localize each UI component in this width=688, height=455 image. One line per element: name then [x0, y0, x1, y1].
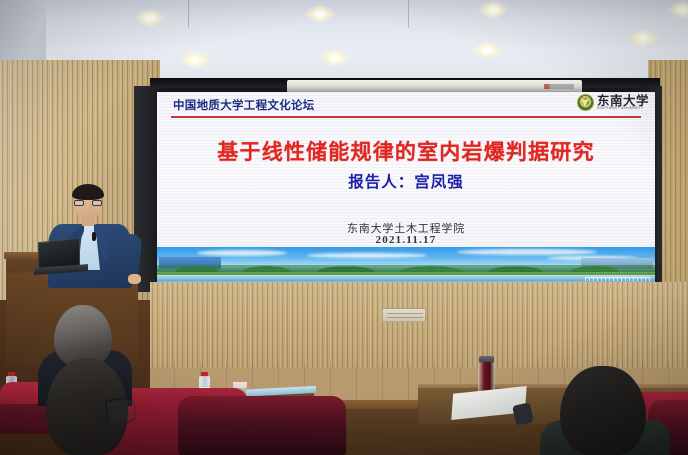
campus-railing — [585, 277, 651, 281]
chair-front-left-dark[interactable] — [178, 396, 346, 455]
logo-english-name: SOUTHEAST UNIVERSITY — [597, 107, 649, 111]
eyeglasses-icon — [74, 200, 102, 206]
speaker-hair — [72, 184, 104, 200]
ceiling-seam — [188, 0, 189, 28]
audience-member-right-hand — [512, 402, 534, 425]
campus-panorama-image — [157, 247, 655, 286]
slide-header: 中国地质大学工程文化论坛 东南大学 SOUTHEAST UNIVERSITY — [157, 92, 655, 118]
speaker — [40, 178, 148, 288]
university-seal-icon — [577, 94, 594, 111]
southeast-university-logo: 东南大学 SOUTHEAST UNIVERSITY — [577, 94, 649, 111]
housing-brand-badge — [544, 84, 574, 89]
ceiling-downlight-icon — [628, 30, 658, 46]
audience-member-right-head — [560, 366, 646, 455]
ceiling-downlight-icon — [135, 10, 165, 26]
slide-title: 基于线性储能规律的室内岩爆判据研究 — [157, 136, 655, 166]
ceiling-downlight-icon — [478, 2, 508, 18]
slide-date: 2021.11.17 — [157, 234, 655, 246]
header-divider — [171, 116, 641, 118]
speaker-hand — [128, 274, 141, 284]
lecture-hall-photo: 中国地质大学工程文化论坛 东南大学 SOUTHEAST UNIVERSITY 基… — [0, 0, 688, 455]
microphone-icon — [92, 232, 96, 241]
ceiling-downlight-icon — [180, 52, 210, 68]
wall-mid-shading — [150, 282, 688, 368]
ceiling-downlight-icon — [320, 50, 350, 66]
ceiling-downlight-icon — [472, 42, 502, 58]
slide-header-org: 中国地质大学工程文化论坛 — [173, 97, 315, 113]
ceiling-seam — [408, 0, 409, 28]
slide-presenter: 报告人：宫凤强 — [157, 170, 655, 192]
presentation-slide: 中国地质大学工程文化论坛 东南大学 SOUTHEAST UNIVERSITY 基… — [157, 92, 655, 286]
ceiling-downlight-icon — [305, 6, 335, 22]
wall-plaque — [382, 308, 426, 322]
